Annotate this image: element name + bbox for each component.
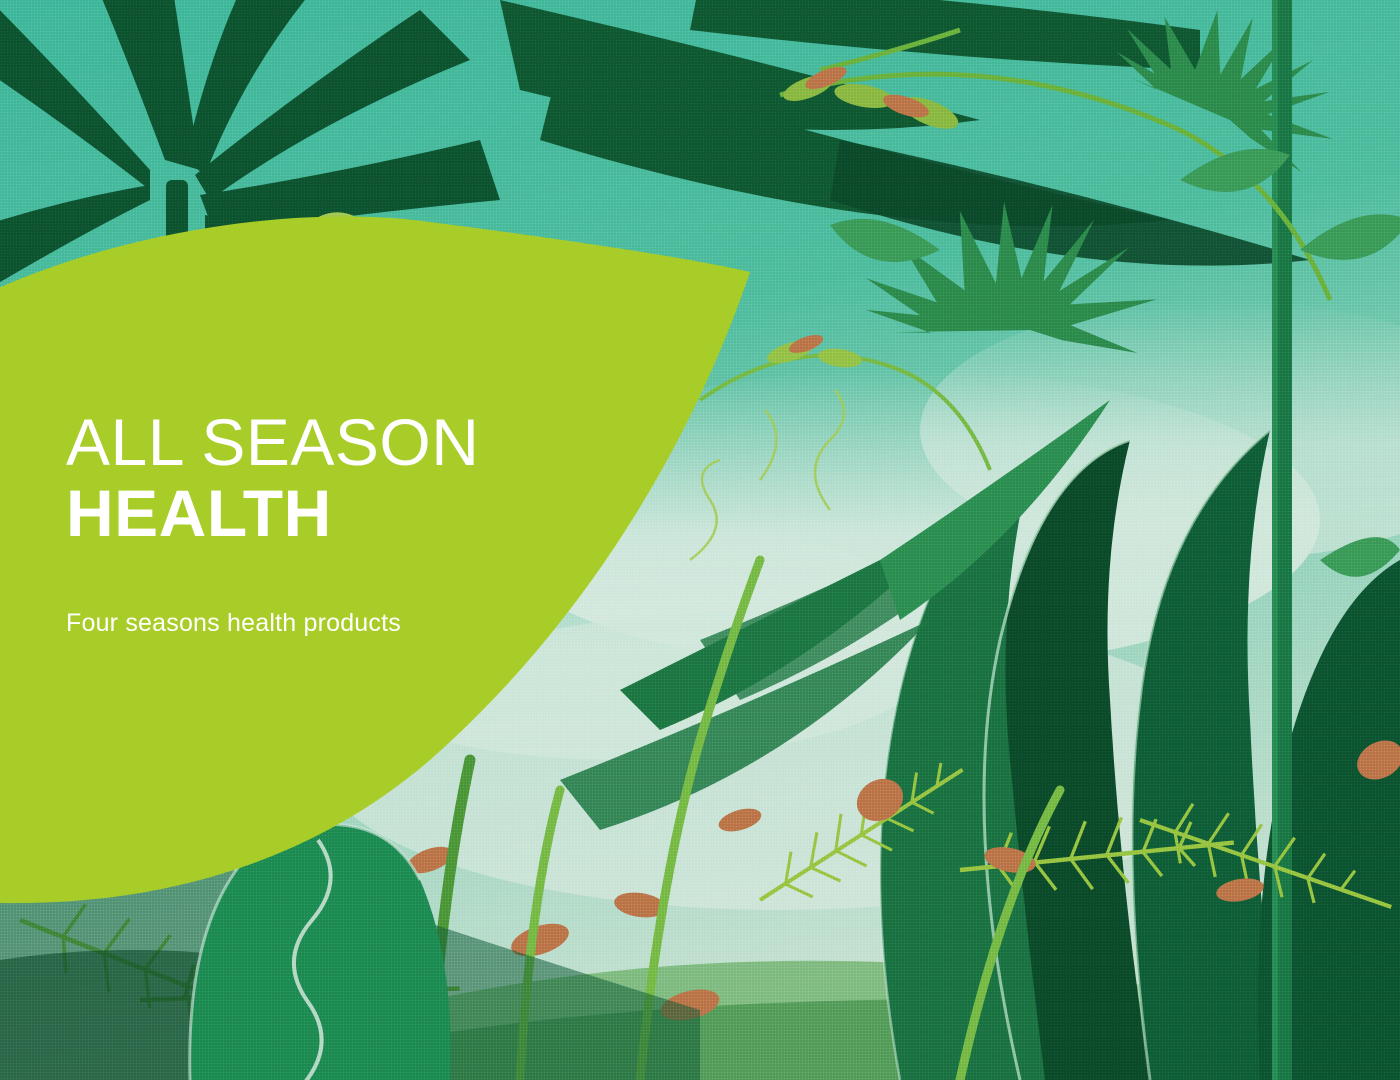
poster-title-line-1: ALL SEASON — [66, 408, 686, 478]
poster-subtitle: Four seasons health products — [66, 549, 686, 638]
poster-canvas: ALL SEASON HEALTH Four seasons health pr… — [0, 0, 1400, 1080]
headline-block: ALL SEASON HEALTH Four seasons health pr… — [66, 408, 686, 638]
poster-title-line-2: HEALTH — [66, 478, 686, 549]
